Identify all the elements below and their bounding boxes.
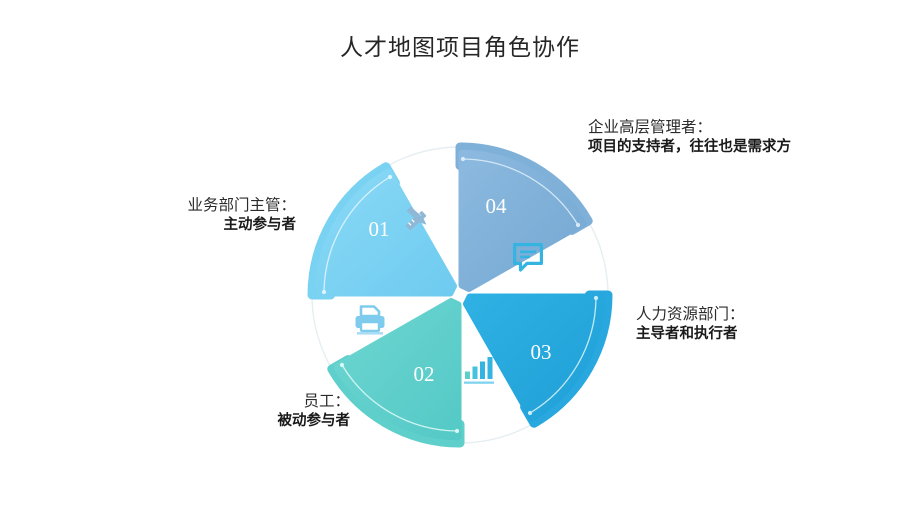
callout-02: 员工： 被动参与者 — [150, 392, 350, 432]
segment-number-03: 03 — [531, 340, 552, 364]
callout-01: 业务部门主管： 主动参与者 — [92, 196, 296, 236]
segment-number-01: 01 — [369, 217, 390, 241]
callout-03-description: 主导者和执行者 — [636, 325, 876, 344]
segment-number-02: 02 — [414, 362, 435, 386]
bar-chart-icon — [464, 357, 494, 384]
callout-03: 人力资源部门： 主导者和执行者 — [636, 305, 876, 345]
callout-01-role: 业务部门主管： — [92, 196, 296, 216]
callout-03-role: 人力资源部门： — [636, 305, 876, 325]
callout-04: 企业高层管理者： 项目的支持者，往往也是需求方 — [588, 118, 850, 158]
segment-number-04: 04 — [486, 194, 508, 218]
callout-02-description: 被动参与者 — [150, 412, 350, 431]
page-title: 人才地图项目角色协作 — [0, 28, 920, 62]
callout-01-description: 主动参与者 — [92, 216, 296, 235]
printer-icon — [356, 307, 385, 335]
slide-canvas: 人才地图项目角色协作 — [0, 0, 920, 517]
callout-02-role: 员工： — [150, 392, 350, 412]
callout-04-role: 企业高层管理者： — [588, 118, 850, 138]
callout-04-description: 项目的支持者，往往也是需求方 — [588, 138, 850, 157]
